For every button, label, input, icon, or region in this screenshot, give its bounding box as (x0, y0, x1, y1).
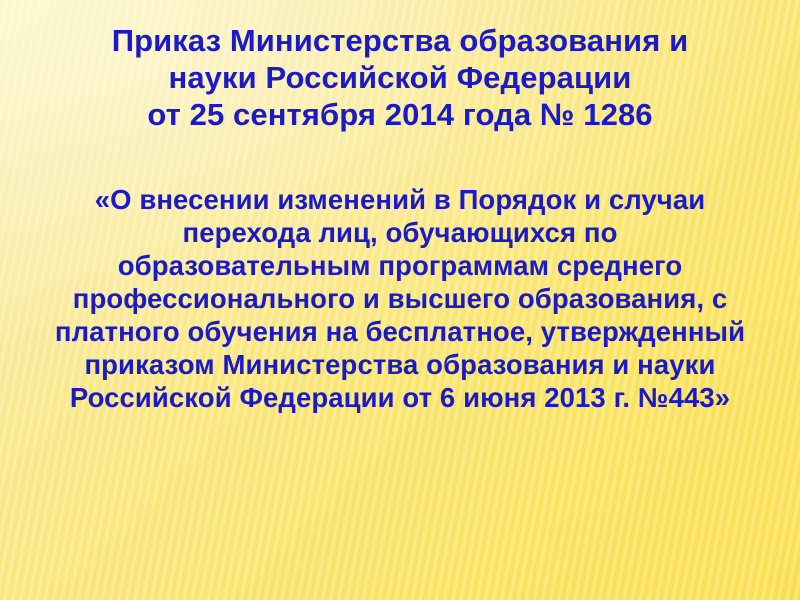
slide-body-line: образовательным программам среднего (18, 249, 782, 282)
slide-title-line: Приказ Министерства образования и (22, 22, 778, 59)
slide-body-line: платного обучения на бесплатное, утвержд… (18, 315, 782, 348)
presentation-slide: Приказ Министерства образования и науки … (0, 0, 800, 600)
slide-body-line: приказом Министерства образования и наук… (18, 348, 782, 381)
slide-body-line: профессионального и высшего образования,… (18, 282, 782, 315)
slide-title-line: науки Российской Федерации (22, 59, 778, 96)
slide-title: Приказ Министерства образования и науки … (22, 22, 778, 133)
slide-body-line: «О внесении изменений в Порядок и случаи (18, 183, 782, 216)
slide-body-text: «О внесении изменений в Порядок и случаи… (18, 183, 782, 414)
slide-content: Приказ Министерства образования и науки … (0, 0, 800, 600)
slide-body-line: перехода лиц, обучающихся по (18, 216, 782, 249)
slide-title-line: от 25 сентября 2014 года № 1286 (22, 96, 778, 133)
slide-body-line: Российской Федерации от 6 июня 2013 г. №… (18, 381, 782, 414)
